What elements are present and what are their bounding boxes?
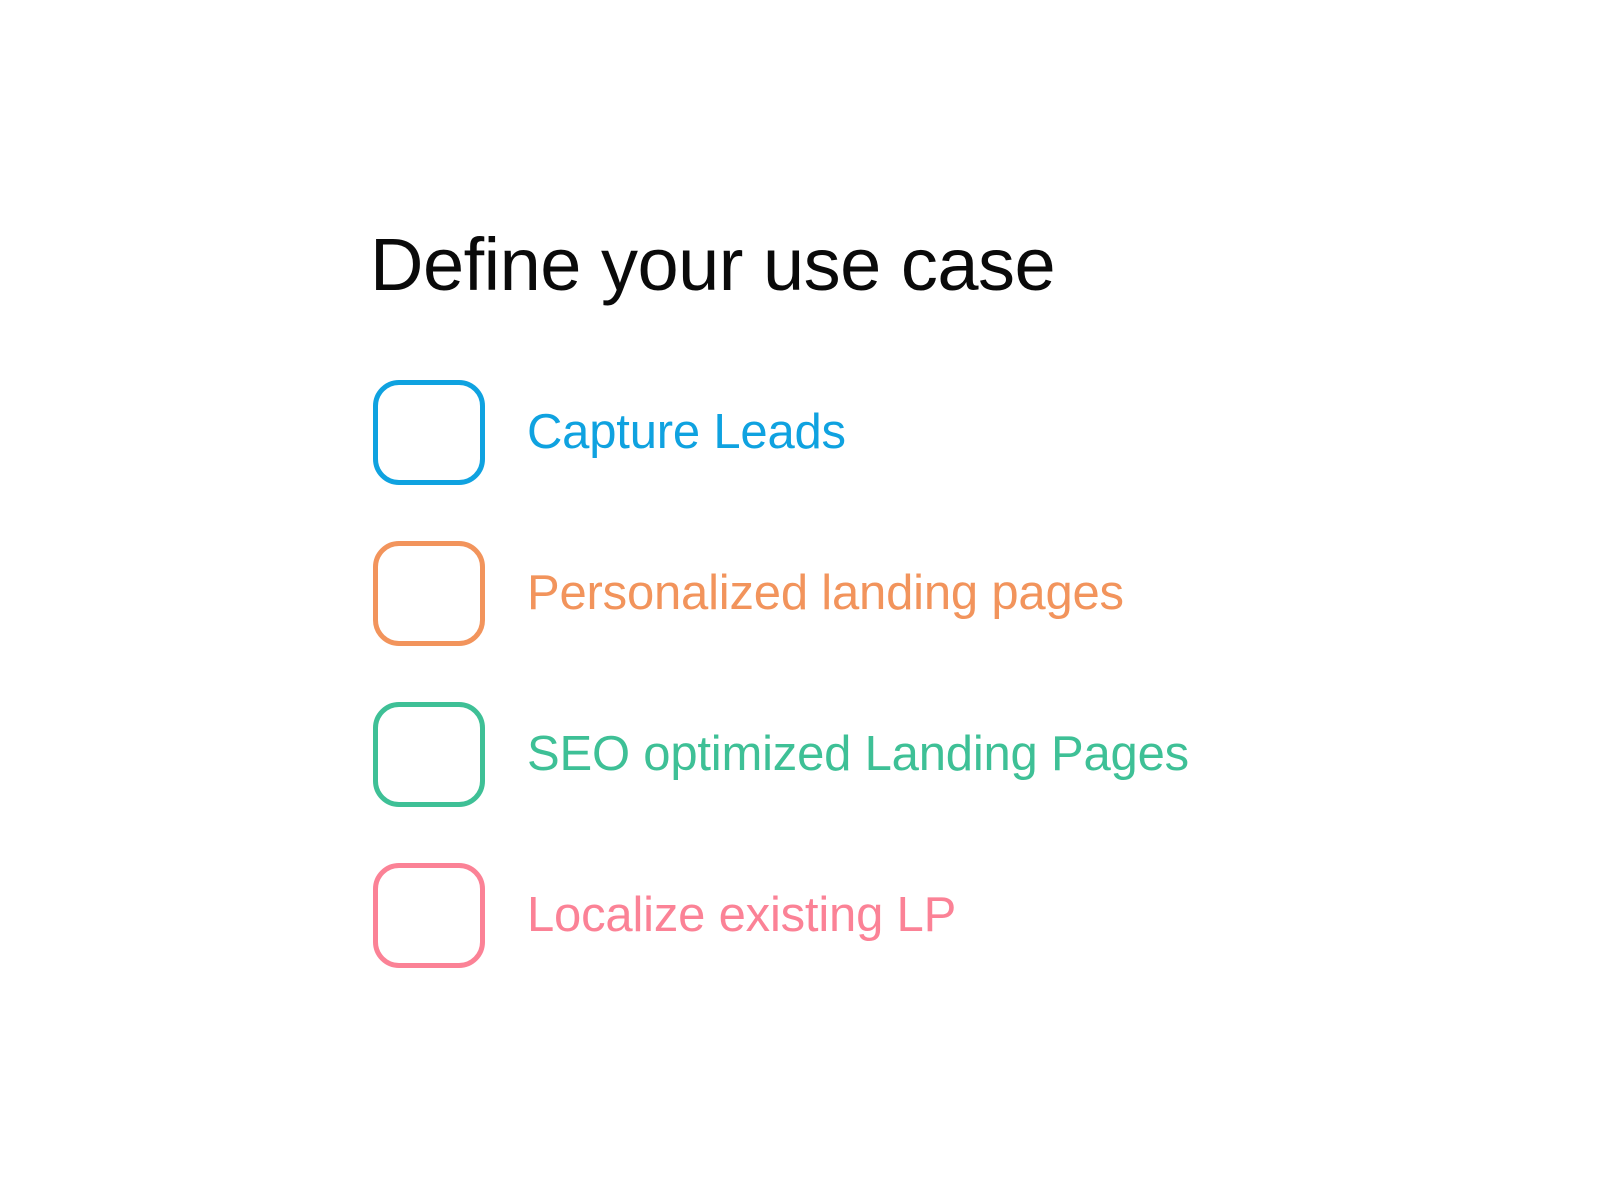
list-item[interactable]: Personalized landing pages <box>373 541 1473 702</box>
checkbox-personalized-landing-pages[interactable] <box>373 541 485 646</box>
list-item[interactable]: Localize existing LP <box>373 863 1473 1024</box>
page-title: Define your use case <box>370 228 1055 302</box>
list-item[interactable]: SEO optimized Landing Pages <box>373 702 1473 863</box>
use-case-checklist: Capture Leads Personalized landing pages… <box>373 380 1473 1024</box>
checkbox-localize-existing-lp[interactable] <box>373 863 485 968</box>
list-item-label: Localize existing LP <box>527 863 956 968</box>
checkbox-capture-leads[interactable] <box>373 380 485 485</box>
checkbox-seo-optimized-landing-pages[interactable] <box>373 702 485 807</box>
list-item[interactable]: Capture Leads <box>373 380 1473 541</box>
list-item-label: Personalized landing pages <box>527 541 1124 646</box>
list-item-label: SEO optimized Landing Pages <box>527 702 1189 807</box>
slide-canvas: Define your use case Capture Leads Perso… <box>0 0 1600 1200</box>
list-item-label: Capture Leads <box>527 380 846 485</box>
